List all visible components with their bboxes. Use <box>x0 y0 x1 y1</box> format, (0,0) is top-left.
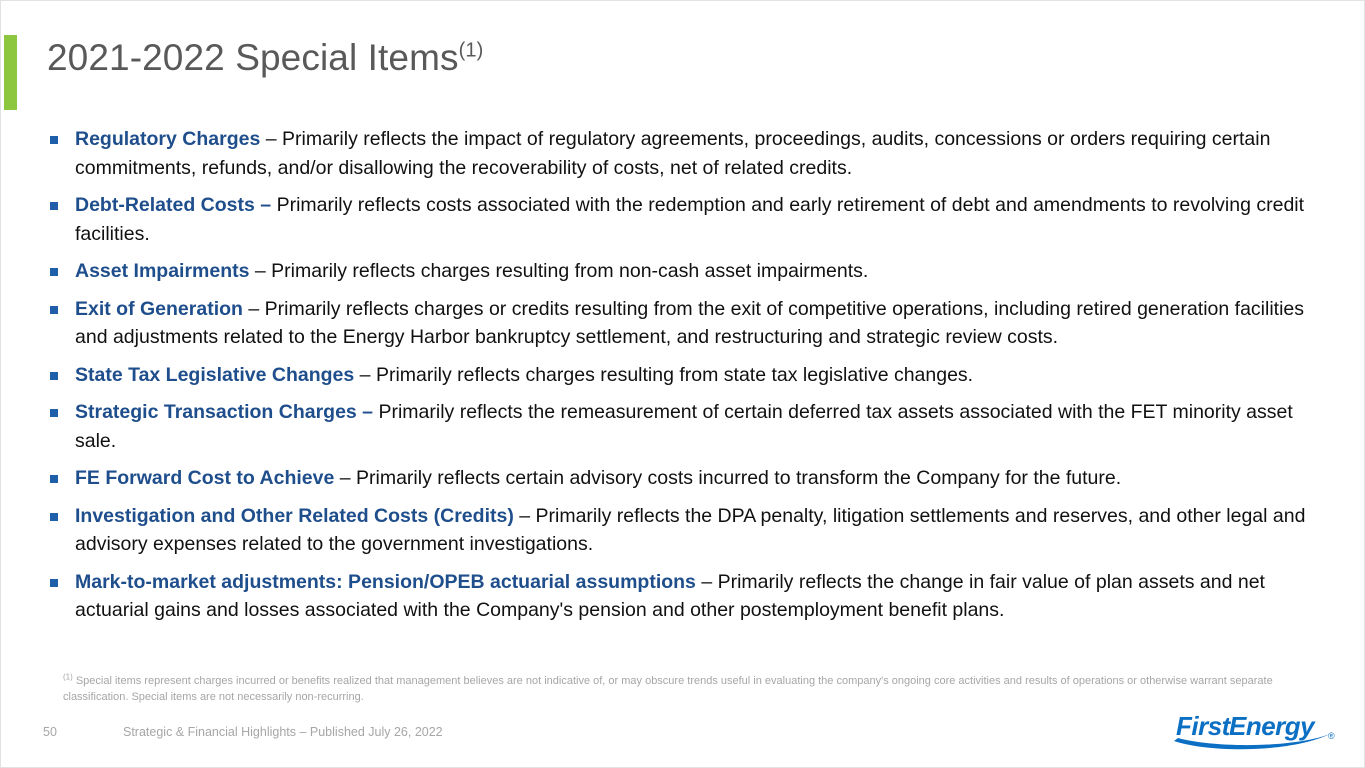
bullet-term: State Tax Legislative Changes <box>75 364 354 386</box>
bullet-dash: – <box>255 194 277 216</box>
bullet-item: Mark-to-market adjustments: Pension/OPEB… <box>47 568 1317 625</box>
bullet-square-icon <box>50 202 58 210</box>
bullet-dash: – <box>260 128 282 150</box>
bullet-description: Primarily reflects charges resulting fro… <box>271 260 868 282</box>
bullet-dash: – <box>514 505 536 527</box>
footer-page-number: 50 <box>43 725 57 739</box>
bullet-square-icon <box>50 136 58 144</box>
bullet-term: Asset Impairments <box>75 260 249 282</box>
bullet-term: Regulatory Charges <box>75 128 260 150</box>
bullet-dash: – <box>354 364 376 386</box>
svg-text:®: ® <box>1328 731 1335 741</box>
bullet-dash: – <box>334 467 356 489</box>
bullet-term: Mark-to-market adjustments: Pension/OPEB… <box>75 571 696 593</box>
bullet-term: Exit of Generation <box>75 298 243 320</box>
bullet-description: Primarily reflects certain advisory cost… <box>356 467 1121 489</box>
firstenergy-logo: First Energy ® <box>1170 708 1348 754</box>
footer-subtitle: Strategic & Financial Highlights – Publi… <box>123 725 443 739</box>
bullet-square-icon <box>50 579 58 587</box>
bullet-square-icon <box>50 475 58 483</box>
title-accent-bar <box>4 35 17 110</box>
bullet-item: Exit of Generation – Primarily reflects … <box>47 295 1317 352</box>
bullet-square-icon <box>50 372 58 380</box>
bullet-square-icon <box>50 306 58 314</box>
slide-canvas: 2021-2022 Special Items(1) Regulatory Ch… <box>0 0 1365 768</box>
page-title-text: 2021-2022 Special Items <box>47 37 459 78</box>
page-title-superscript: (1) <box>459 40 484 62</box>
bullet-item: Investigation and Other Related Costs (C… <box>47 502 1317 559</box>
bullet-item: Asset Impairments – Primarily reflects c… <box>47 257 1317 286</box>
footnote-text: Special items represent charges incurred… <box>63 675 1273 703</box>
bullet-item: Strategic Transaction Charges – Primaril… <box>47 398 1317 455</box>
bullet-item: FE Forward Cost to Achieve – Primarily r… <box>47 464 1317 493</box>
bullet-description: Primarily reflects charges resulting fro… <box>376 364 973 386</box>
footnote: (1) Special items represent charges incu… <box>63 673 1293 705</box>
bullet-term: Debt-Related Costs <box>75 194 255 216</box>
special-items-bullet-list: Regulatory Charges – Primarily reflects … <box>47 125 1317 634</box>
bullet-square-icon <box>50 513 58 521</box>
page-title: 2021-2022 Special Items(1) <box>47 37 483 79</box>
bullet-item: State Tax Legislative Changes – Primaril… <box>47 361 1317 390</box>
bullet-square-icon <box>50 268 58 276</box>
bullet-item: Regulatory Charges – Primarily reflects … <box>47 125 1317 182</box>
svg-text:First: First <box>1176 711 1232 741</box>
bullet-term: FE Forward Cost to Achieve <box>75 467 334 489</box>
bullet-dash: – <box>243 298 265 320</box>
footnote-marker: (1) <box>63 672 73 681</box>
bullet-dash: – <box>696 571 718 593</box>
bullet-item: Debt-Related Costs – Primarily reflects … <box>47 191 1317 248</box>
bullet-dash: – <box>357 401 379 423</box>
bullet-dash: – <box>249 260 271 282</box>
bullet-term: Strategic Transaction Charges <box>75 401 357 423</box>
bullet-term: Investigation and Other Related Costs (C… <box>75 505 514 527</box>
bullet-square-icon <box>50 409 58 417</box>
svg-text:Energy: Energy <box>1229 711 1316 741</box>
